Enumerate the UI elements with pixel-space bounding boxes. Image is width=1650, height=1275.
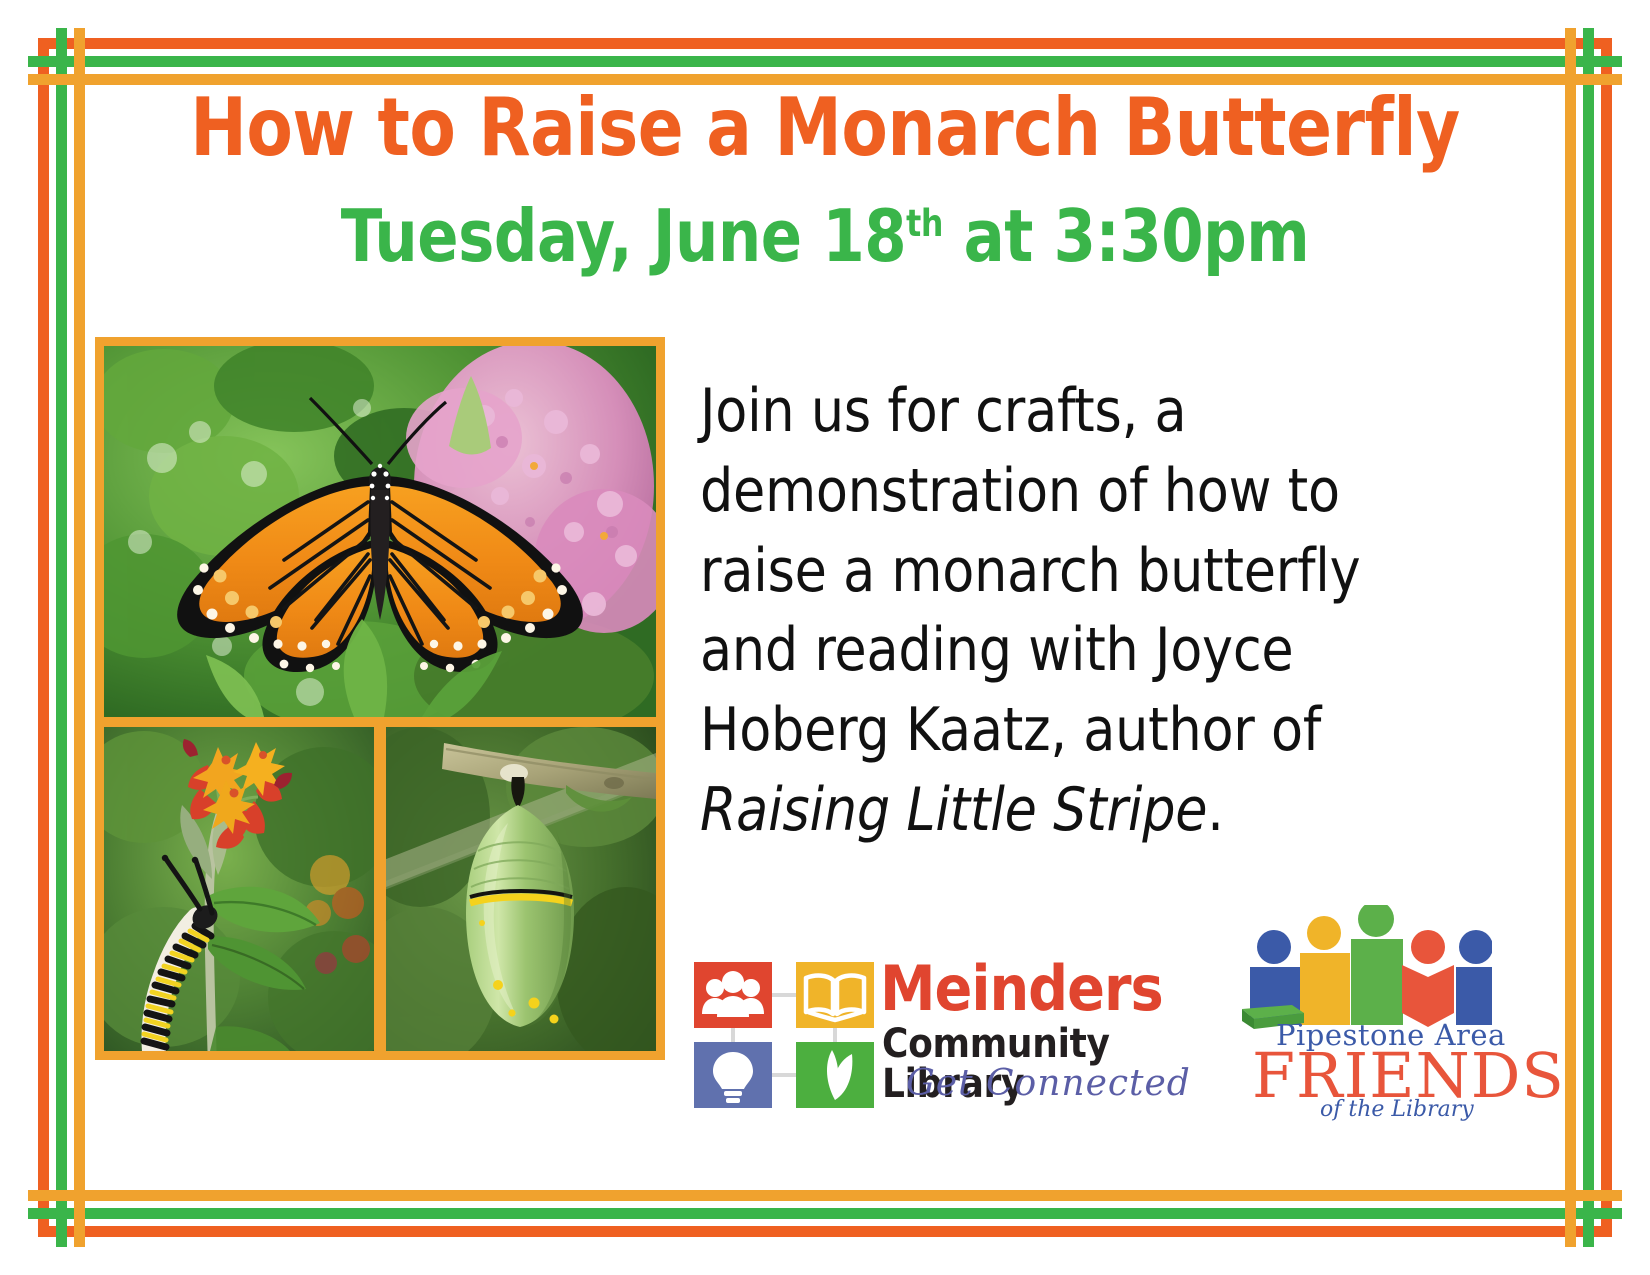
- open-book-icon: [796, 962, 874, 1028]
- figure-yellow-body: [1300, 953, 1350, 1025]
- body-line-book: Raising Little Stripe.: [700, 771, 1437, 851]
- logo-connector-h-bottom: [772, 1073, 796, 1077]
- leaf-icon: [796, 1042, 874, 1108]
- monarch-butterfly-photo: [104, 346, 656, 717]
- monarch-chrysalis-photo: [386, 727, 656, 1051]
- logo-connector-h-top: [772, 993, 796, 997]
- body-line: Hoberg Kaatz, author of: [700, 691, 1437, 771]
- body-line: raise a monarch butterfly: [700, 532, 1437, 612]
- figure-red-head: [1411, 930, 1445, 964]
- logo-tile-lightbulb: [694, 1042, 772, 1108]
- date-ordinal: th: [906, 201, 943, 245]
- poster-description: Join us for crafts, a demonstration of h…: [700, 372, 1437, 851]
- figure-blue-right-body: [1456, 967, 1492, 1025]
- figure-blue-head: [1257, 930, 1291, 964]
- border-rule-orange-left: [38, 38, 49, 1237]
- meinders-wordmark: Meinders: [880, 958, 1163, 1020]
- logo-connector-v-left: [731, 1028, 735, 1042]
- friends-figures-graphic: [1232, 905, 1492, 1035]
- book-title-period: .: [1207, 775, 1223, 845]
- body-line: Join us for crafts, a: [700, 372, 1437, 452]
- lightbulb-icon: [694, 1042, 772, 1108]
- friends-tagline: of the Library: [1320, 1099, 1474, 1121]
- figure-green-body: [1351, 939, 1403, 1025]
- people-icon: [694, 962, 772, 1028]
- border-rule-orange-right: [1601, 38, 1612, 1237]
- logo-tile-book: [796, 962, 874, 1028]
- logo-connector-v-right: [833, 1028, 837, 1042]
- figure-blue-right-head: [1459, 930, 1492, 964]
- logo-tile-people: [694, 962, 772, 1028]
- body-line: demonstration of how to: [700, 452, 1437, 532]
- date-prefix: Tuesday, June 18: [341, 194, 906, 278]
- photo-collage: [95, 337, 665, 1060]
- figure-yellow-head: [1307, 916, 1341, 950]
- body-line: and reading with Joyce: [700, 611, 1437, 691]
- border-rule-orange-bottom: [38, 1226, 1612, 1237]
- event-poster: How to Raise a Monarch Butterfly Tuesday…: [0, 0, 1650, 1275]
- logo-tile-leaf: [796, 1042, 874, 1108]
- poster-date-time: Tuesday, June 18th at 3:30pm: [50, 200, 1601, 272]
- poster-title: How to Raise a Monarch Butterfly: [50, 88, 1601, 168]
- border-rule-green-bottom: [28, 1208, 1622, 1219]
- book-title: Raising Little Stripe: [700, 775, 1207, 845]
- figure-green-head: [1358, 905, 1394, 937]
- border-rule-orange-top: [38, 38, 1612, 49]
- meinders-community-library-logo: Meinders Community Library Get Connected: [694, 962, 1199, 1107]
- pipestone-friends-library-logo: Pipestone Area FRIENDS of the Library: [1232, 905, 1492, 1120]
- border-rule-amber-bottom: [28, 1190, 1622, 1201]
- date-suffix: at 3:30pm: [943, 194, 1309, 278]
- border-rule-green-top: [28, 56, 1622, 67]
- meinders-tagline: Get Connected: [906, 1066, 1191, 1102]
- monarch-caterpillar-photo: [104, 727, 374, 1051]
